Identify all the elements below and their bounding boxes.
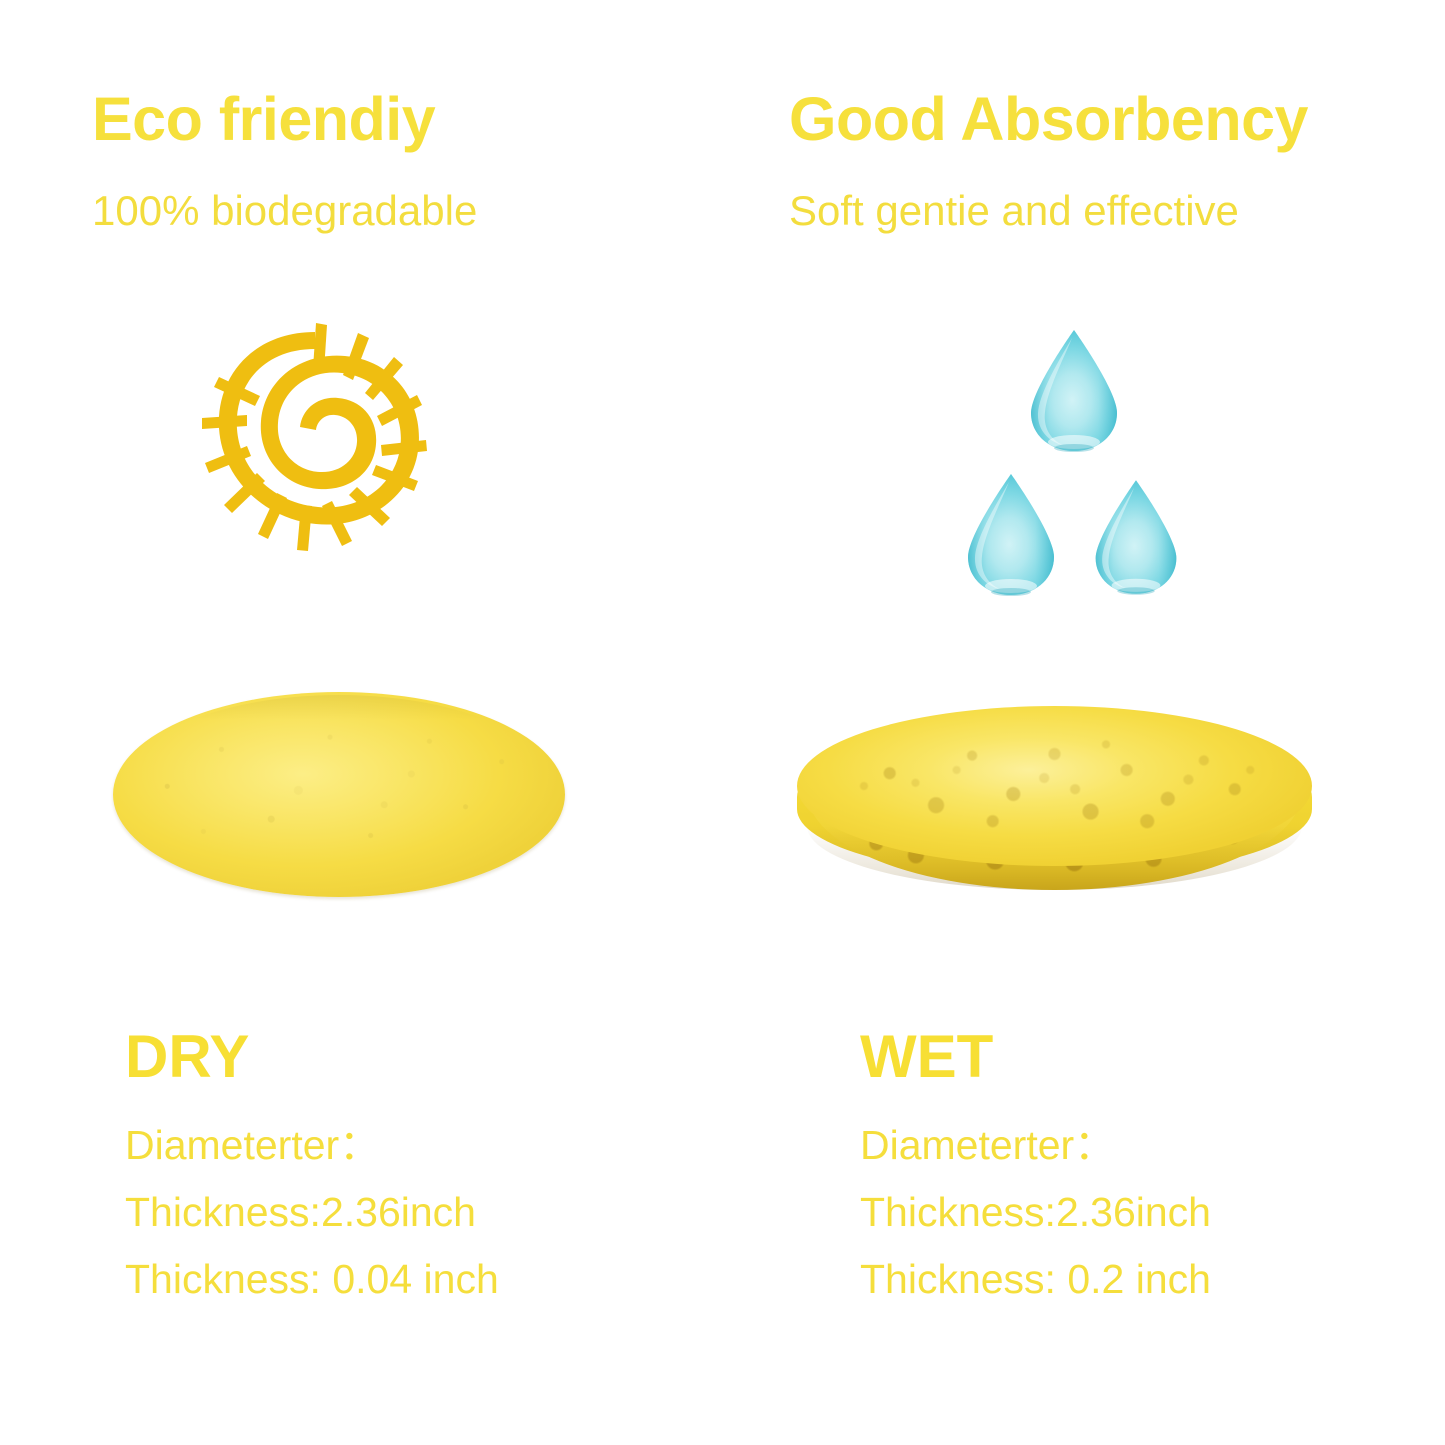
sun-icon (198, 315, 433, 570)
water-drop-top (1025, 328, 1123, 453)
water-drop-bottom-right (1090, 478, 1182, 596)
wet-sponge-disc (797, 706, 1312, 911)
water-drop-bottom-left (962, 472, 1060, 597)
water-drops-icon (960, 320, 1220, 600)
wet-spec-diameter: Diameterter： (860, 1125, 1115, 1166)
feature-title-good-absorbency: Good Absorbency (789, 89, 1308, 150)
wet-sponge-surface-texture (797, 706, 1312, 866)
dry-spec-thickness-1: Thickness:2.36inch (125, 1192, 476, 1233)
dry-sponge-disc (113, 692, 565, 897)
wet-spec-thickness-1: Thickness:2.36inch (860, 1192, 1211, 1233)
feature-subtitle-eco-friendly: 100% biodegradable (92, 190, 477, 232)
feature-subtitle-good-absorbency: Soft gentie and effective (789, 190, 1239, 232)
wet-spec-thickness-2: Thickness: 0.2 inch (860, 1259, 1211, 1300)
dry-sponge-edge (113, 695, 565, 900)
state-label-dry: DRY (125, 1027, 249, 1087)
feature-title-eco-friendly: Eco friendiy (92, 89, 435, 150)
state-label-wet: WET (860, 1027, 993, 1087)
product-infographic: Eco friendiy 100% biodegradable (0, 0, 1445, 1445)
dry-spec-diameter: Diameterter： (125, 1125, 380, 1166)
dry-spec-thickness-2: Thickness: 0.04 inch (125, 1259, 499, 1300)
